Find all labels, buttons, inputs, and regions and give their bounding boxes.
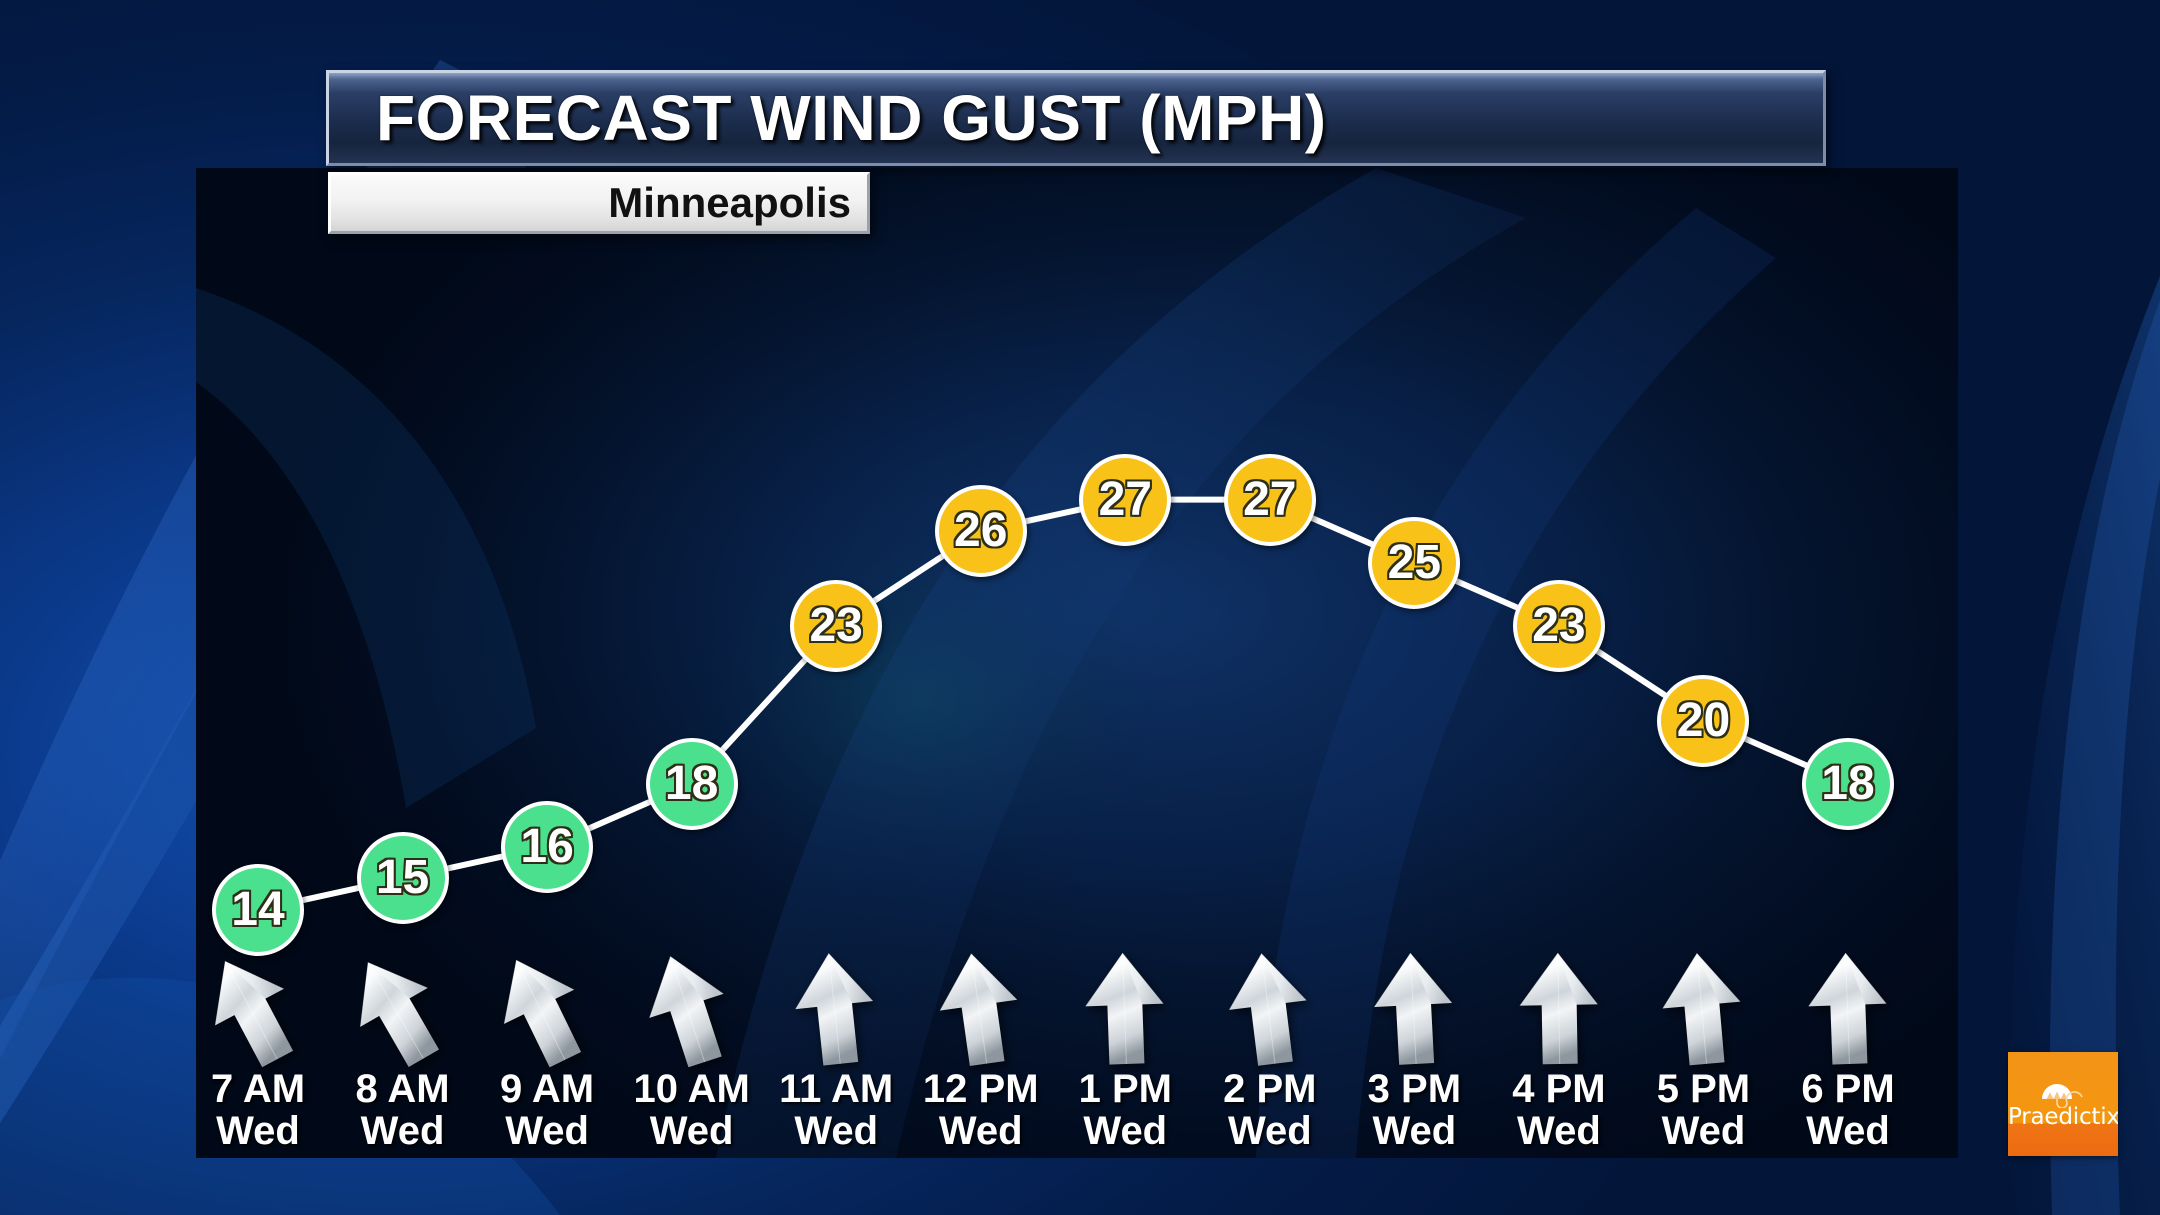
hour-column: 11 AMWed [761,948,911,1153]
hour-time-label: 2 PM [1195,1068,1345,1110]
hour-day-label: Wed [761,1110,911,1152]
hour-time-label: 10 AM [617,1068,767,1110]
wind-arrow-icon [472,948,622,1068]
hour-day-label: Wed [472,1110,622,1152]
hour-column: 4 PMWed [1484,948,1634,1153]
hour-column: 9 AMWed [472,948,622,1153]
hour-day-label: Wed [1484,1110,1634,1152]
data-point-value: 26 [954,507,1007,555]
hour-column: 2 PMWed [1195,948,1345,1153]
hour-time-label: 9 AM [472,1068,622,1110]
hour-column: 5 PMWed [1628,948,1778,1153]
wind-arrow-icon [1050,948,1200,1068]
data-point-value: 25 [1388,539,1441,587]
data-point-node: 15 [357,832,449,924]
hour-time-label: 5 PM [1628,1068,1778,1110]
data-point-value: 18 [1821,760,1874,808]
hour-day-label: Wed [328,1110,478,1152]
logo-wordmark: Praedictix [2008,1104,2118,1130]
wind-arrow-icon [328,948,478,1068]
wind-arrow-icon [1195,948,1345,1068]
data-point-value: 15 [376,854,429,902]
hour-day-label: Wed [906,1110,1056,1152]
hour-column: 7 AMWed [196,948,333,1153]
hour-day-label: Wed [1628,1110,1778,1152]
chart-title-bar: FORECAST WIND GUST (MPH) [326,70,1826,166]
data-point-value: 20 [1677,697,1730,745]
hour-column: 12 PMWed [906,948,1056,1153]
hour-time-label: 3 PM [1339,1068,1489,1110]
location-label: Minneapolis [608,179,867,227]
hour-day-label: Wed [1773,1110,1923,1152]
wind-arrow-icon [1484,948,1634,1068]
data-point-node: 20 [1657,675,1749,767]
chart-panel: 141516182326272725232018 7 AMWed [196,168,1958,1158]
hour-day-label: Wed [1339,1110,1489,1152]
hour-time-label: 4 PM [1484,1068,1634,1110]
wind-arrow-icon [617,948,767,1068]
data-point-value: 27 [1243,476,1296,524]
wind-arrow-icon [761,948,911,1068]
hour-column: 1 PMWed [1050,948,1200,1153]
data-point-node: 27 [1224,454,1316,546]
hour-column: 3 PMWed [1339,948,1489,1153]
data-point-value: 18 [665,760,718,808]
wind-arrow-icon [1339,948,1489,1068]
data-point-node: 25 [1368,517,1460,609]
data-point-value: 27 [1099,476,1152,524]
data-point-node: 23 [790,580,882,672]
data-point-value: 23 [809,602,862,650]
hour-day-label: Wed [1195,1110,1345,1152]
hour-time-label: 6 PM [1773,1068,1923,1110]
weather-graphic: 141516182326272725232018 7 AMWed [0,0,2160,1215]
data-point-node: 27 [1079,454,1171,546]
hour-column: 10 AMWed [617,948,767,1153]
praedictix-logo: Praedictix [2008,1052,2118,1156]
hour-day-label: Wed [1050,1110,1200,1152]
wind-arrow-icon [1773,948,1923,1068]
data-point-node: 18 [646,738,738,830]
wind-arrow-icon [906,948,1056,1068]
data-point-node: 16 [501,801,593,893]
data-point-node: 18 [1802,738,1894,830]
hour-column: 8 AMWed [328,948,478,1153]
data-point-node: 26 [935,485,1027,577]
hour-column: 6 PMWed [1773,948,1923,1153]
hour-day-label: Wed [196,1110,333,1152]
page-title: FORECAST WIND GUST (MPH) [329,81,1327,155]
hour-day-label: Wed [617,1110,767,1152]
hour-time-label: 7 AM [196,1068,333,1110]
data-point-value: 16 [520,823,573,871]
data-point-node: 23 [1513,580,1605,672]
wind-arrow-icon [196,948,333,1068]
hour-time-label: 11 AM [761,1068,911,1110]
data-point-value: 14 [231,886,284,934]
data-point-value: 23 [1532,602,1585,650]
location-bar: Minneapolis [328,172,870,234]
wind-arrow-icon [1628,948,1778,1068]
hour-time-label: 12 PM [906,1068,1056,1110]
hour-time-label: 1 PM [1050,1068,1200,1110]
